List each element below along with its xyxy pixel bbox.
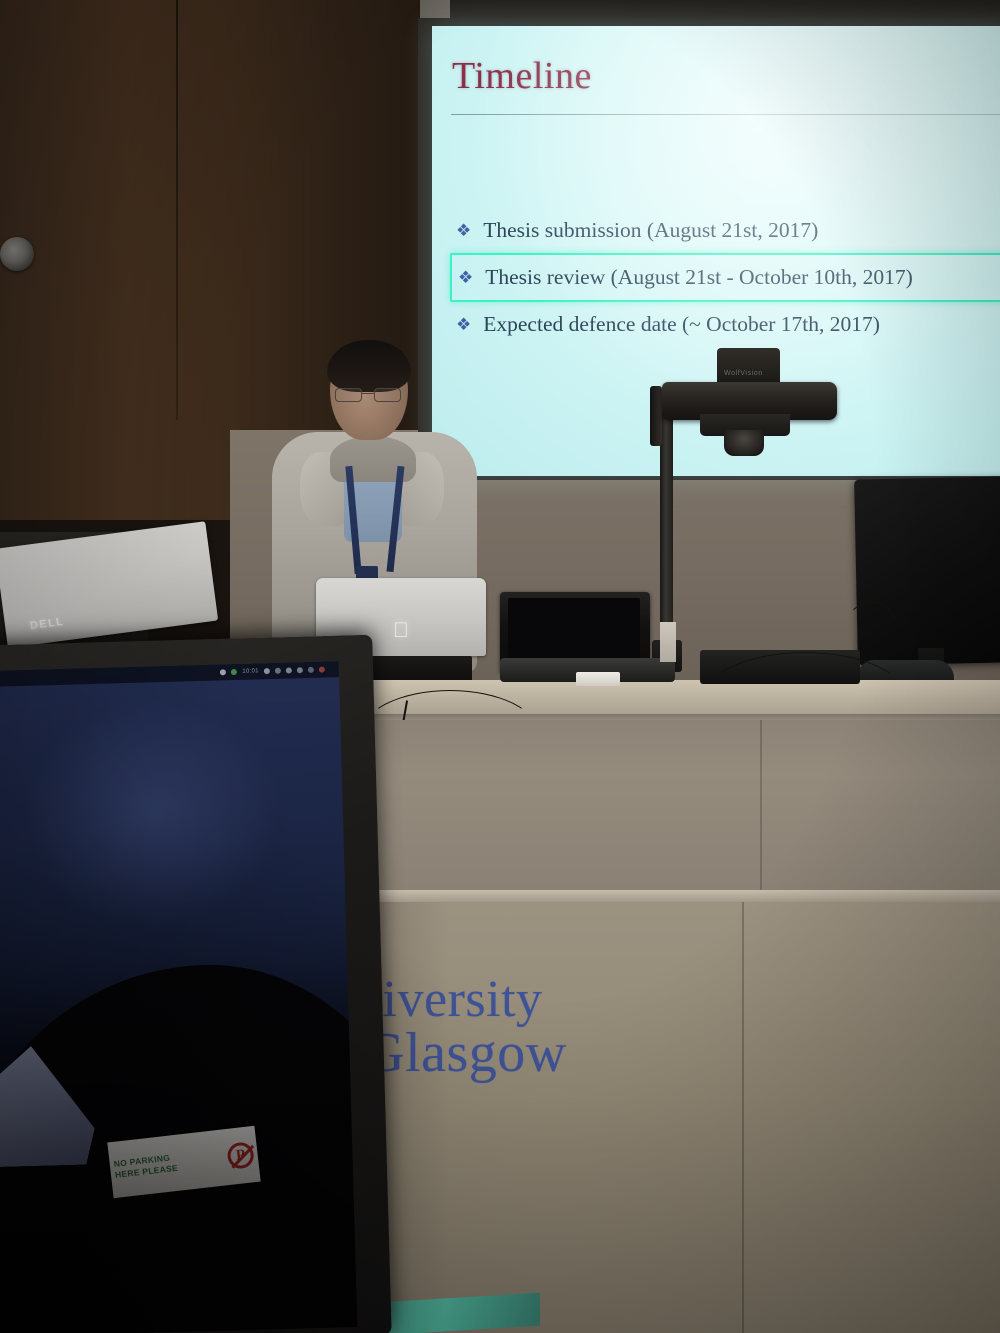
- slide-bullet-text: Expected defence date (~ October 17th, 2…: [483, 312, 880, 337]
- photo-scene: Timeline ❖ Thesis submission (August 21s…: [0, 0, 1000, 1333]
- slide-bullet-text: Thesis review (August 21st - October 10t…: [485, 265, 913, 290]
- bluetooth-icon[interactable]: [275, 668, 281, 674]
- control-center-icon[interactable]: [308, 667, 314, 673]
- diamond-bullet-icon: ❖: [456, 316, 471, 333]
- slide-bullet-item: ❖ Expected defence date (~ October 17th,…: [450, 302, 1000, 347]
- foreground-laptop-screen[interactable]: 10:01: [0, 661, 357, 1333]
- podium-upper-seam: [760, 720, 762, 900]
- wallpaper-sky-glow: [20, 693, 286, 930]
- slide-bullet-text: Thesis submission (August 21st, 2017): [483, 218, 818, 243]
- dropbox-icon[interactable]: [220, 669, 226, 675]
- slide-bullet-item: ❖ Thesis submission (August 21st, 2017): [450, 208, 1000, 253]
- document-camera-brand-label: WolfVision: [724, 370, 763, 377]
- document-camera-arm: [650, 386, 662, 446]
- notification-icon[interactable]: [319, 666, 325, 672]
- wifi-icon[interactable]: [264, 668, 270, 674]
- diamond-bullet-icon: ❖: [458, 269, 473, 286]
- battery-icon[interactable]: [231, 669, 237, 675]
- apple-logo-icon: : [392, 620, 410, 642]
- slide-bullet-item-highlighted: ❖ Thesis review (August 21st - October 1…: [450, 253, 1000, 302]
- no-parking-badge-icon: P: [226, 1141, 255, 1170]
- volume-icon[interactable]: [286, 667, 292, 673]
- eyeglass-lens-right: [374, 388, 401, 402]
- eyeglass-lens-left: [335, 388, 362, 402]
- power-adapter: [576, 672, 620, 686]
- desk-post: [660, 622, 676, 662]
- eyeglasses-icon: [334, 388, 404, 402]
- slide-bullet-list: ❖ Thesis submission (August 21st, 2017) …: [450, 208, 1000, 347]
- wall-fixture-knob: [0, 237, 34, 271]
- diamond-bullet-icon: ❖: [456, 222, 471, 239]
- menubar-clock[interactable]: 10:01: [242, 668, 259, 674]
- slide-title-divider: [451, 114, 1000, 115]
- document-camera-head: [717, 348, 780, 384]
- camera-lens-icon: [724, 430, 764, 456]
- spotlight-icon[interactable]: [297, 667, 303, 673]
- podium-lower-seam: [742, 902, 744, 1333]
- slide-title: Timeline: [452, 54, 592, 98]
- black-laptop-screen: [508, 598, 640, 662]
- parking-sign-text: NO PARKING HERE PLEASE: [113, 1146, 229, 1181]
- wood-panel-seam: [176, 0, 178, 420]
